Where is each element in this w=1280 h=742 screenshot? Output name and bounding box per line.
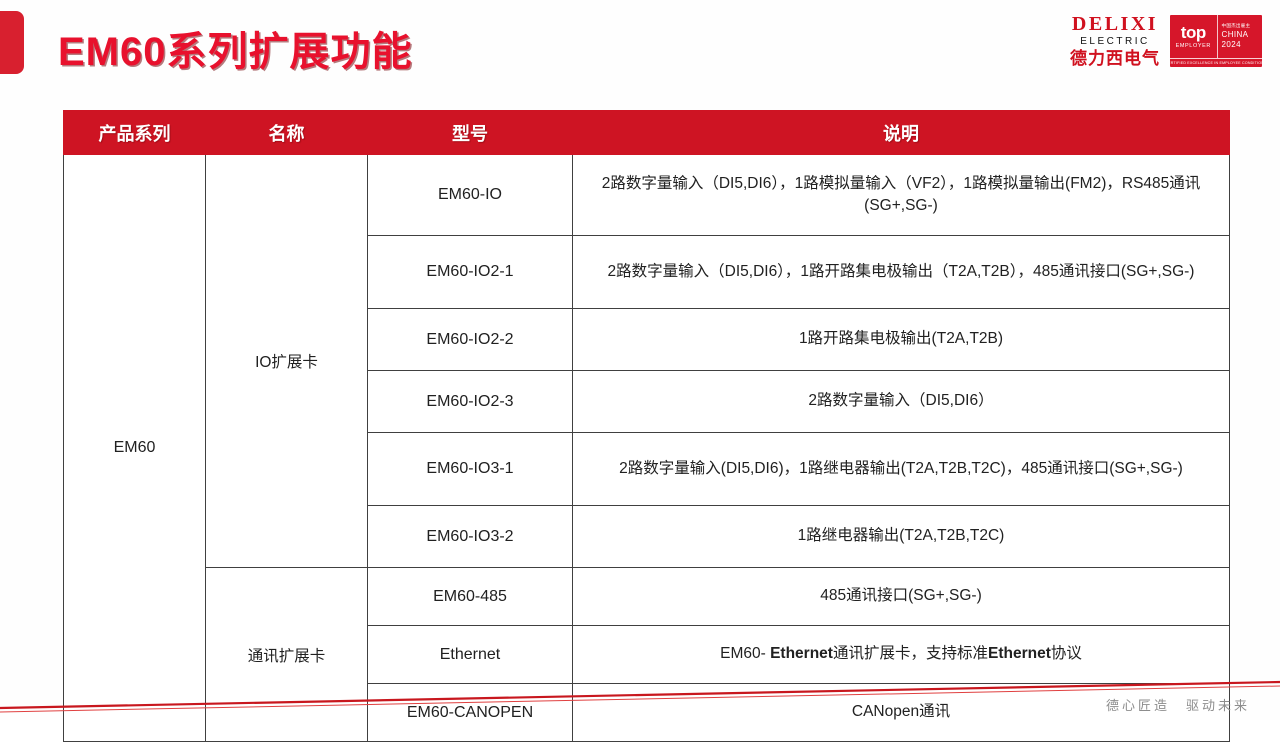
cell-model: EM60-IO3-1	[368, 433, 573, 506]
cell-description: 2路数字量输入（DI5,DI6），1路模拟量输入（VF2），1路模拟量输出(FM…	[573, 155, 1230, 236]
cell-model: EM60-IO3-2	[368, 506, 573, 568]
badge-left-panel: top EMPLOYER	[1170, 15, 1218, 58]
badge-cn-line: 中国杰出雇主	[1222, 23, 1262, 29]
cell-model: EM60-IO2-1	[368, 236, 573, 309]
delixi-brand-sub: ELECTRIC	[1080, 37, 1149, 47]
column-header-desc: 说明	[573, 111, 1230, 155]
column-header-model: 型号	[368, 111, 573, 155]
cell-model: EM60-IO	[368, 155, 573, 236]
cell-product-series: EM60	[64, 155, 206, 742]
cell-description: 2路数字量输入(DI5,DI6)，1路继电器输出(T2A,T2B,T2C)，48…	[573, 433, 1230, 506]
top-employer-badge: top EMPLOYER 中国杰出雇主 CHINA 2024 CERTIFIED…	[1170, 15, 1262, 67]
cell-model: EM60-IO2-3	[368, 371, 573, 433]
footer-diagonal-line-icon	[0, 660, 1280, 720]
page-title: EM60系列扩展功能	[58, 19, 413, 77]
table-row: 通讯扩展卡 EM60-485 485通讯接口(SG+,SG-)	[64, 568, 1230, 626]
delixi-logo: DELIXI ELECTRIC 德力西电气	[1070, 14, 1160, 67]
cell-description: 1路继电器输出(T2A,T2B,T2C)	[573, 506, 1230, 568]
cell-description: 1路开路集电极输出(T2A,T2B)	[573, 309, 1230, 371]
badge-year: 2024	[1222, 40, 1262, 49]
expansion-function-table: 产品系列 名称 型号 说明 EM60 IO扩展卡 EM60-IO 2路数字量输入…	[63, 110, 1230, 742]
table-header-row: 产品系列 名称 型号 说明	[64, 111, 1230, 155]
cell-model: EM60-485	[368, 568, 573, 626]
cell-model: EM60-IO2-2	[368, 309, 573, 371]
cell-description: 485通讯接口(SG+,SG-)	[573, 568, 1230, 626]
footer-slogan: 德心匠造 驱动未来	[1106, 695, 1250, 714]
decorative-red-tab	[0, 11, 24, 74]
badge-top-text: top	[1181, 24, 1206, 41]
delixi-brand-en: DELIXI	[1072, 14, 1158, 34]
cell-description: 2路数字量输入（DI5,DI6），1路开路集电极输出（T2A,T2B），485通…	[573, 236, 1230, 309]
badge-country: CHINA	[1222, 30, 1262, 39]
table-row: EM60 IO扩展卡 EM60-IO 2路数字量输入（DI5,DI6），1路模拟…	[64, 155, 1230, 236]
slide-root: EM60系列扩展功能 DELIXI ELECTRIC 德力西电气 top EMP…	[0, 0, 1280, 720]
badge-body: top EMPLOYER 中国杰出雇主 CHINA 2024	[1170, 15, 1262, 58]
footer-decoration	[0, 660, 1280, 720]
delixi-brand-cn: 德力西电气	[1070, 50, 1160, 67]
cell-group-name-io: IO扩展卡	[206, 155, 368, 568]
badge-employer-text: EMPLOYER	[1176, 43, 1211, 49]
column-header-name: 名称	[206, 111, 368, 155]
brand-logo: DELIXI ELECTRIC 德力西电气 top EMPLOYER 中国杰出雇…	[1070, 14, 1262, 67]
badge-footer-text: CERTIFIED EXCELLENCE IN EMPLOYEE CONDITI…	[1170, 58, 1262, 67]
cell-description: 2路数字量输入（DI5,DI6）	[573, 371, 1230, 433]
column-header-series: 产品系列	[64, 111, 206, 155]
badge-right-panel: 中国杰出雇主 CHINA 2024	[1218, 15, 1262, 58]
